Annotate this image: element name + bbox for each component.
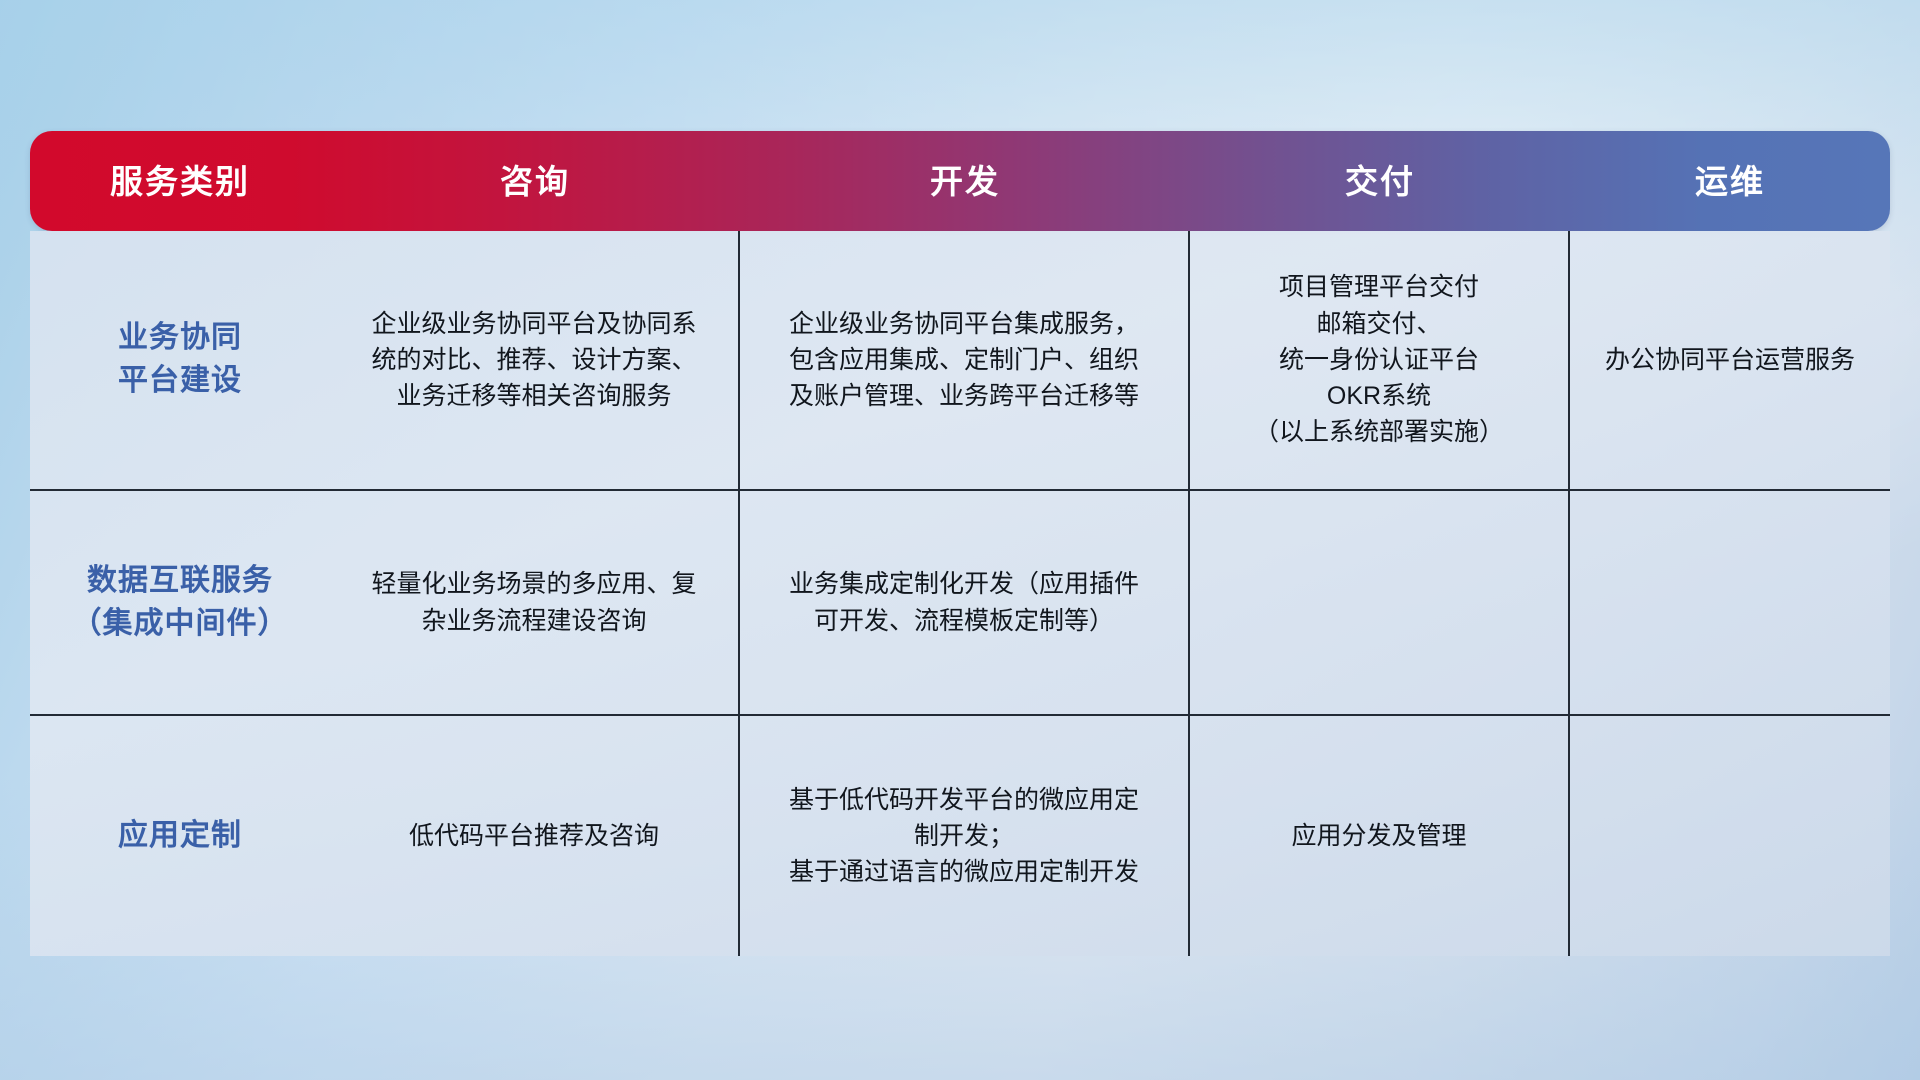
cell-text-line: OKR系统 [1254,378,1504,414]
cell-text-line: 可开发、流程模板定制等） [789,603,1139,639]
cell-consulting: 轻量化业务场景的多应用、复杂业务流程建设咨询 [330,491,740,714]
cell-text-line: 平台建设 [118,360,242,403]
cell-text-line: 统一身份认证平台 [1254,342,1504,378]
table-header-row: 服务类别 咨询 开发 交付 运维 [30,131,1890,231]
table-row: 数据互联服务（集成中间件） 轻量化业务场景的多应用、复杂业务流程建设咨询 业务集… [30,491,1890,716]
cell-development: 企业级业务协同平台集成服务，包含应用集成、定制门户、组织及账户管理、业务跨平台迁… [740,231,1190,489]
cell-text-line: 低代码平台推荐及咨询 [409,818,659,854]
table-row: 业务协同平台建设 企业级业务协同平台及协同系统的对比、推荐、设计方案、业务迁移等… [30,231,1890,491]
cell-text-line: （以上系统部署实施） [1254,414,1504,450]
column-header-consulting: 咨询 [330,131,740,231]
table-row: 应用定制 低代码平台推荐及咨询 基于低代码开发平台的微应用定制开发；基于通过语言… [30,716,1890,956]
cell-text-line: 应用定制 [118,815,242,858]
cell-text-line: 企业级业务协同平台集成服务， [789,306,1139,342]
cell-text-line: 应用分发及管理 [1291,818,1466,854]
cell-delivery: 应用分发及管理 [1190,716,1570,956]
cell-operations [1570,491,1890,714]
cell-text-line: 统的对比、推荐、设计方案、 [371,342,696,378]
cell-text-line: 轻量化业务场景的多应用、复 [371,566,696,602]
column-header-delivery: 交付 [1190,131,1570,231]
column-header-service-category: 服务类别 [30,131,330,231]
column-header-label: 运维 [1695,165,1765,198]
cell-text-line: 基于通过语言的微应用定制开发 [789,854,1139,890]
column-header-label: 交付 [1345,165,1415,198]
cell-development: 业务集成定制化开发（应用插件可开发、流程模板定制等） [740,491,1190,714]
cell-text-line: 业务集成定制化开发（应用插件 [789,566,1139,602]
cell-text-line: 基于低代码开发平台的微应用定 [789,782,1139,818]
cell-text-line: 及账户管理、业务跨平台迁移等 [789,378,1139,414]
cell-text-line: 杂业务流程建设咨询 [371,603,696,639]
cell-category: 应用定制 [30,716,330,956]
cell-text-line: 包含应用集成、定制门户、组织 [789,342,1139,378]
cell-text-line: 业务协同 [118,317,242,360]
cell-development: 基于低代码开发平台的微应用定制开发；基于通过语言的微应用定制开发 [740,716,1190,956]
cell-consulting: 低代码平台推荐及咨询 [330,716,740,956]
column-header-development: 开发 [740,131,1190,231]
cell-operations [1570,716,1890,956]
column-header-label: 咨询 [500,165,570,198]
cell-category: 数据互联服务（集成中间件） [30,491,330,714]
cell-category: 业务协同平台建设 [30,231,330,489]
column-header-operations: 运维 [1570,131,1890,231]
table-body: 业务协同平台建设 企业级业务协同平台及协同系统的对比、推荐、设计方案、业务迁移等… [30,231,1890,956]
cell-operations: 办公协同平台运营服务 [1570,231,1890,489]
cell-text-line: 企业级业务协同平台及协同系 [371,306,696,342]
cell-text-line: （集成中间件） [72,603,289,646]
cell-text-line: 数据互联服务 [72,560,289,603]
cell-delivery [1190,491,1570,714]
cell-text-line: 业务迁移等相关咨询服务 [371,378,696,414]
cell-delivery: 项目管理平台交付邮箱交付、统一身份认证平台OKR系统（以上系统部署实施） [1190,231,1570,489]
cell-text-line: 办公协同平台运营服务 [1605,342,1855,378]
column-header-label: 服务类别 [110,165,250,198]
cell-consulting: 企业级业务协同平台及协同系统的对比、推荐、设计方案、业务迁移等相关咨询服务 [330,231,740,489]
service-matrix-table: 服务类别 咨询 开发 交付 运维 业务协同平台建设 企业级业务协同平台及协同系统… [30,131,1890,956]
cell-text-line: 项目管理平台交付 [1254,269,1504,305]
column-header-label: 开发 [930,165,1000,198]
cell-text-line: 邮箱交付、 [1254,306,1504,342]
cell-text-line: 制开发； [789,818,1139,854]
